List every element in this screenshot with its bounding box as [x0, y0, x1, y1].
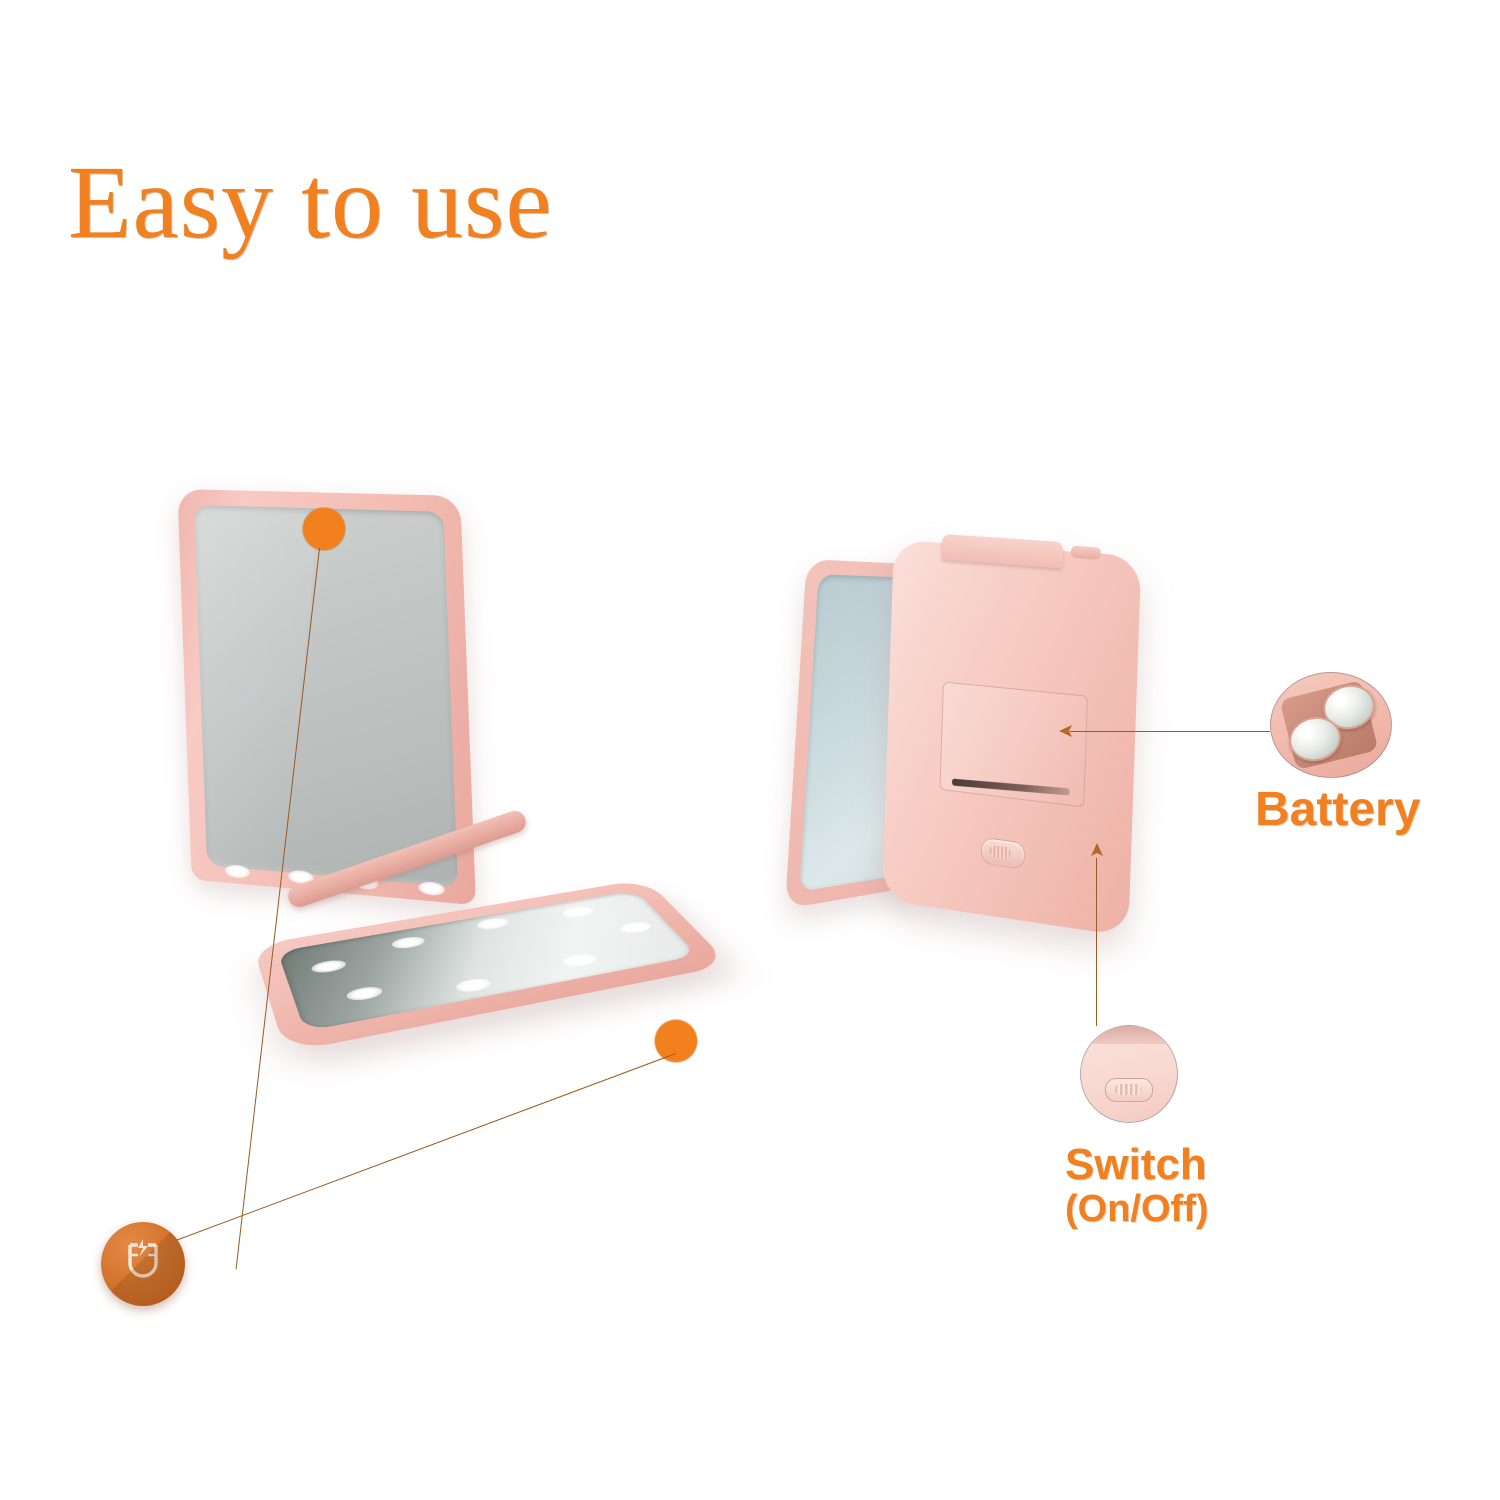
page-title: Easy to use [68, 148, 553, 257]
switch-callout-label: Switch [1065, 1140, 1195, 1190]
flat-mirror-panel [252, 879, 730, 1053]
led-dot [345, 985, 385, 1003]
led-dot [560, 905, 597, 919]
magnet-point-upper-marker [303, 508, 345, 550]
battery-closeup-inset [1270, 672, 1392, 778]
switch-closeup-inset [1080, 1025, 1178, 1123]
back-panel [882, 540, 1141, 937]
product-image-standing-compact [780, 520, 1220, 970]
flat-mirror-surface [277, 890, 697, 1031]
magnet-badge [101, 1222, 185, 1306]
battery-arrowhead-icon [1058, 721, 1080, 743]
upright-mirror-surface [194, 505, 458, 887]
led-dot [617, 920, 655, 935]
switch-callout-sublabel: (On/Off) [1065, 1188, 1195, 1231]
infographic-canvas: Easy to use [0, 0, 1500, 1500]
magnet-icon [121, 1239, 165, 1289]
led-dot [310, 958, 348, 974]
led-dot [453, 977, 493, 994]
led-dot [474, 916, 511, 930]
magnet-point-lower-marker [655, 1020, 697, 1062]
hinge-tab [941, 534, 1063, 568]
switch-inset-edge [1080, 1025, 1178, 1044]
battery-callout-label: Battery [1255, 782, 1420, 837]
switch-arrowhead-icon [1087, 842, 1109, 864]
product-image-open-compact [150, 480, 830, 1160]
led-dot [390, 935, 427, 950]
led-dot [560, 952, 600, 968]
battery-door-slot [952, 779, 1070, 796]
power-switch [981, 837, 1026, 870]
battery-compartment-door [939, 681, 1087, 807]
switch-lead-line [1096, 858, 1097, 1026]
battery-lead-line [1070, 731, 1270, 732]
hinge-nub [1071, 546, 1101, 560]
switch-inset-slider [1105, 1078, 1153, 1102]
